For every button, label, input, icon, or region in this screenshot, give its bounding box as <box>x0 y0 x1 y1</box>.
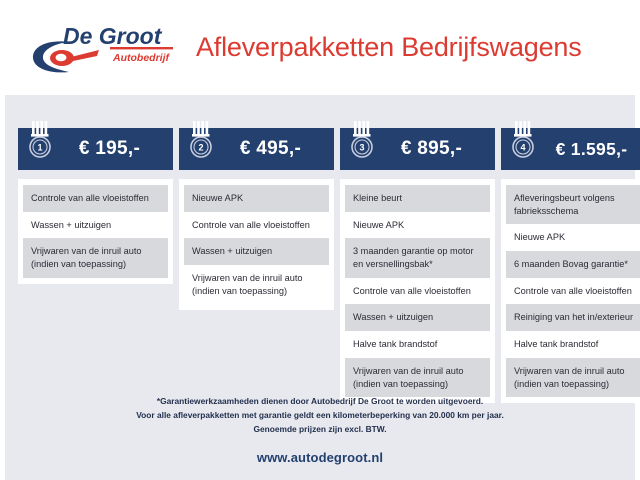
list-item: Halve tank brandstof <box>345 331 490 358</box>
price-label-1: € 195,- <box>51 138 140 160</box>
price-header-2: 2 € 495,- <box>179 128 334 170</box>
medal-icon: 2 <box>187 121 217 163</box>
badge-number-4: 4 <box>520 143 525 153</box>
list-item: Controle van alle vloeistoffen <box>23 185 168 212</box>
list-item: Controle van alle vloeistoffen <box>184 212 329 239</box>
list-item: Vrijwaren van de inruil auto(indien van … <box>506 358 640 397</box>
package-item-list-2: Nieuwe APK Controle van alle vloeistoffe… <box>179 179 334 310</box>
package-item-list-1: Controle van alle vloeistoffen Wassen + … <box>18 179 173 284</box>
de-groot-logo: De Groot Autobedrijf <box>27 16 182 80</box>
price-header-4: 4 € 1.595,- <box>501 128 640 170</box>
page-body: 1 € 195,- Controle van alle vloeistoffen… <box>5 95 635 480</box>
list-item: Reiniging van het in/exterieur <box>506 304 640 331</box>
package-columns: 1 € 195,- Controle van alle vloeistoffen… <box>18 128 622 403</box>
list-item: Nieuwe APK <box>345 212 490 239</box>
package-column-2: 2 € 495,- Nieuwe APK Controle van alle v… <box>179 128 334 310</box>
svg-text:De Groot: De Groot <box>63 23 163 49</box>
footer-disclaimer-line-3: Genoemde prijzen zijn excl. BTW. <box>5 423 635 437</box>
package-item-list-3: Kleine beurt Nieuwe APK 3 maanden garant… <box>340 179 495 403</box>
list-item: Controle van alle vloeistoffen <box>506 278 640 305</box>
footer-disclaimer-line-1: *Garantiewerkzaamheden dienen door Autob… <box>5 395 635 409</box>
list-item: Wassen + uitzuigen <box>23 212 168 239</box>
price-label-2: € 495,- <box>212 138 301 160</box>
list-item: 3 maanden garantie op motoren versnellin… <box>345 238 490 277</box>
badge-number-1: 1 <box>37 143 42 153</box>
list-item: Vrijwaren van de inruil auto(indien van … <box>184 265 329 304</box>
footer-disclaimer-line-2: Voor alle afleverpakketten met garantie … <box>5 409 635 423</box>
poster-page: De Groot Autobedrijf Afleverpakketten Be… <box>0 0 640 480</box>
list-item: Halve tank brandstof <box>506 331 640 358</box>
package-item-list-4: Afleveringsbeurt volgensfabrieksschema N… <box>501 179 640 403</box>
package-column-1: 1 € 195,- Controle van alle vloeistoffen… <box>18 128 173 284</box>
website-link[interactable]: www.autodegroot.nl <box>5 450 635 465</box>
list-item: Nieuwe APK <box>506 224 640 251</box>
page-footer: *Garantiewerkzaamheden dienen door Autob… <box>5 395 635 465</box>
price-header-3: 3 € 895,- <box>340 128 495 170</box>
price-label-3: € 895,- <box>373 138 462 160</box>
list-item: Wassen + uitzuigen <box>345 304 490 331</box>
list-item: Wassen + uitzuigen <box>184 238 329 265</box>
price-header-1: 1 € 195,- <box>18 128 173 170</box>
badge-number-2: 2 <box>198 143 203 153</box>
medal-icon: 3 <box>348 121 378 163</box>
medal-icon: 4 <box>509 121 539 163</box>
page-header: De Groot Autobedrijf Afleverpakketten Be… <box>5 0 635 95</box>
package-column-4: 4 € 1.595,- Afleveringsbeurt volgensfabr… <box>501 128 640 403</box>
list-item: Kleine beurt <box>345 185 490 212</box>
page-title: Afleverpakketten Bedrijfswagens <box>196 32 582 63</box>
medal-icon: 1 <box>26 121 56 163</box>
list-item: 6 maanden Bovag garantie* <box>506 251 640 278</box>
package-column-3: 3 € 895,- Kleine beurt Nieuwe APK 3 maan… <box>340 128 495 403</box>
list-item: Vrijwaren van de inruil auto(indien van … <box>23 238 168 277</box>
price-label-4: € 1.595,- <box>530 139 628 160</box>
list-item: Afleveringsbeurt volgensfabrieksschema <box>506 185 640 224</box>
list-item: Vrijwaren van de inruil auto(indien van … <box>345 358 490 397</box>
badge-number-3: 3 <box>359 143 364 153</box>
list-item: Nieuwe APK <box>184 185 329 212</box>
list-item: Controle van alle vloeistoffen <box>345 278 490 305</box>
svg-text:Autobedrijf: Autobedrijf <box>112 52 170 64</box>
